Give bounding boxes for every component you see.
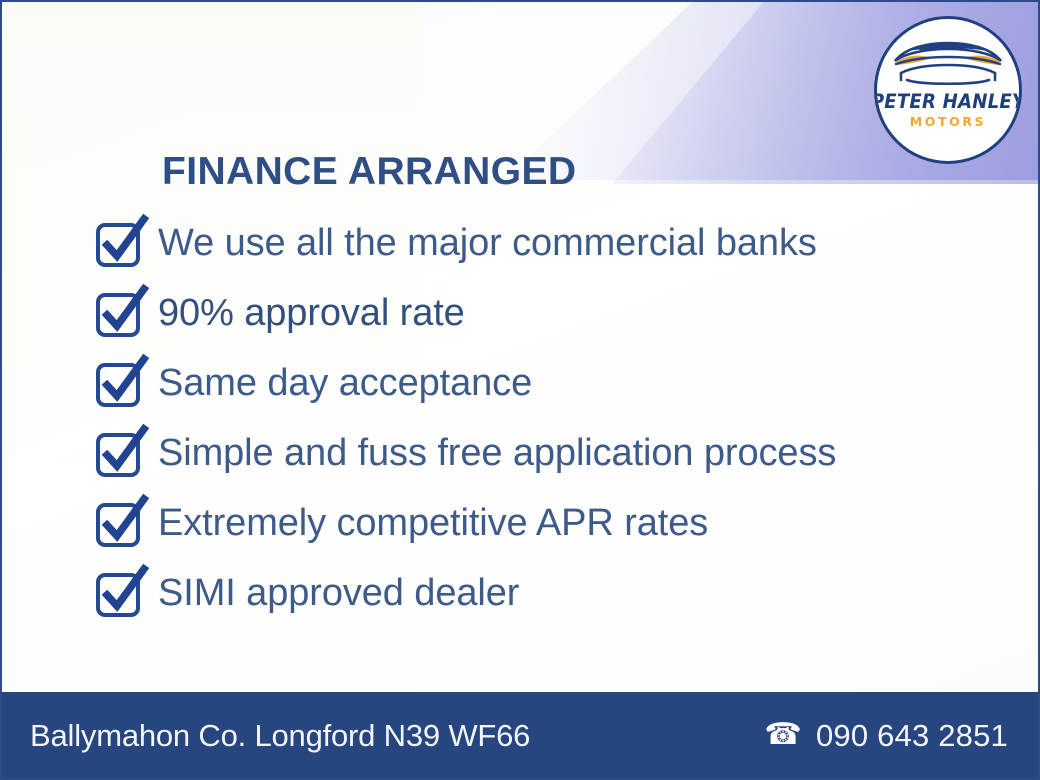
checked-checkbox-icon <box>94 357 146 409</box>
footer-phone-number: 090 643 2851 <box>816 718 1008 754</box>
checked-checkbox-icon <box>94 567 146 619</box>
list-item: Simple and fuss free application process <box>94 418 974 488</box>
list-item-label: Same day acceptance <box>158 364 532 402</box>
advert-canvas: PETER HANLEY MOTORS FINANCE ARRANGED We … <box>0 0 1040 780</box>
footer-phone-block[interactable]: ☎ 090 643 2851 <box>764 718 1008 754</box>
checked-checkbox-icon <box>94 287 146 339</box>
footer-bar: Ballymahon Co. Longford N39 WF66 ☎ 090 6… <box>0 692 1040 780</box>
logo-brand-name: PETER HANLEY <box>874 92 1022 112</box>
list-item-label: We use all the major commercial banks <box>158 224 817 262</box>
list-item: SIMI approved dealer <box>94 558 974 628</box>
list-item-label: SIMI approved dealer <box>158 574 519 612</box>
checked-checkbox-icon <box>94 217 146 269</box>
checked-checkbox-icon <box>94 497 146 549</box>
list-item-label: 90% approval rate <box>158 294 465 332</box>
list-item: We use all the major commercial banks <box>94 208 974 278</box>
logo-brand-subtitle: MOTORS <box>910 116 986 129</box>
list-item: 90% approval rate <box>94 278 974 348</box>
list-item-label: Extremely competitive APR rates <box>158 504 708 542</box>
checked-checkbox-icon <box>94 427 146 479</box>
footer-address: Ballymahon Co. Longford N39 WF66 <box>30 718 530 754</box>
list-item: Extremely competitive APR rates <box>94 488 974 558</box>
page-title: FINANCE ARRANGED <box>162 150 576 194</box>
list-item-label: Simple and fuss free application process <box>158 434 836 472</box>
list-item: Same day acceptance <box>94 348 974 418</box>
telephone-icon: ☎ <box>764 720 802 750</box>
brand-logo: PETER HANLEY MOTORS <box>874 16 1022 164</box>
car-silhouette-icon <box>887 35 1009 91</box>
benefits-checklist: We use all the major commercial banks 90… <box>94 208 974 628</box>
